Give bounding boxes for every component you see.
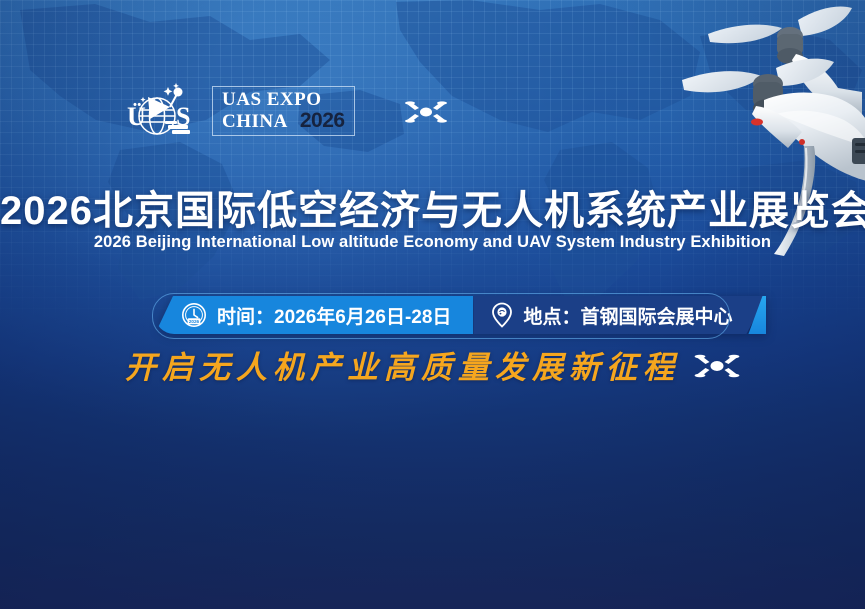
page-subtitle: 2026 Beijing International Low altitude … xyxy=(0,233,865,252)
brand-lockup: Ü S UAS EXPO CHINA 2026 xyxy=(124,80,447,142)
location-pin-icon xyxy=(491,302,513,328)
event-place: 地点：首钢国际会展中心 xyxy=(473,296,766,334)
uas-globe-satellite-logo: Ü S xyxy=(124,81,198,141)
page-title: 2026北京国际低空经济与无人机系统产业展览会 xyxy=(0,178,865,236)
clock-calendar-icon: 2026 xyxy=(181,302,207,328)
slogan-row: 开启无人机产业高质量发展新征程 xyxy=(0,342,865,387)
drone-icon xyxy=(405,96,447,126)
event-place-label: 地点：首钢国际会展中心 xyxy=(523,302,732,329)
slogan-text: 开启无人机产业高质量发展新征程 xyxy=(125,342,680,387)
svg-text:2026: 2026 xyxy=(189,319,200,324)
drone-icon xyxy=(694,349,740,381)
event-time: 2026 时间：2026年6月26日-28日 xyxy=(155,296,473,334)
dot-grid-pattern xyxy=(0,0,865,330)
expo-line-2: CHINA xyxy=(222,112,288,131)
expo-title-box: UAS EXPO CHINA 2026 xyxy=(212,86,355,136)
world-map-silhouette xyxy=(0,0,865,340)
event-time-label: 时间：2026年6月26日-28日 xyxy=(217,302,451,329)
event-info-bar: 2026 时间：2026年6月26日-28日 地点：首钢国际会展中心 xyxy=(155,296,766,334)
svg-text:Ü: Ü xyxy=(127,102,146,131)
expo-line-1: UAS EXPO xyxy=(222,90,345,109)
expo-year: 2026 xyxy=(300,110,345,131)
exhibition-banner: Ü S UAS EXPO CHINA 2026 xyxy=(0,0,865,609)
